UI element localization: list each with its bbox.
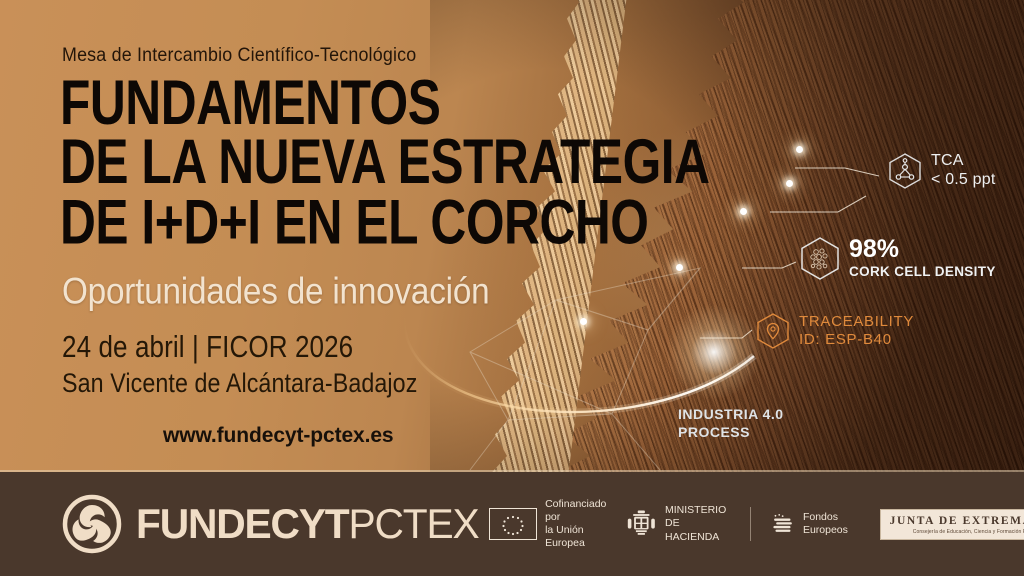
location-pin-hexagon-icon bbox=[756, 312, 790, 350]
data-point-marker bbox=[676, 264, 683, 271]
partner-divider bbox=[750, 507, 751, 541]
partner-eu-label: Cofinanciado por la Unión Europea bbox=[545, 498, 606, 551]
headline-line-2: DE LA NUEVA ESTRATEGIA bbox=[60, 134, 649, 194]
fundecyt-triskelion-logo-icon bbox=[62, 494, 122, 554]
fondos-europeos-icon bbox=[770, 508, 795, 540]
partner-fondos-label: Fondos Europeos bbox=[803, 511, 860, 537]
page-title: FUNDAMENTOS DE LA NUEVA ESTRATEGIA DE I+… bbox=[60, 74, 649, 253]
website-url[interactable]: www.fundecyt-pctex.es bbox=[163, 424, 394, 448]
partner-ministerio-label: MINISTERIO DE HACIENDA bbox=[665, 504, 730, 543]
callout-tca-line1: TCA bbox=[931, 152, 996, 171]
data-point-marker bbox=[580, 318, 587, 325]
page-subtitle: Oportunidades de innovación bbox=[62, 271, 489, 313]
event-date: 24 de abril | FICOR 2026 bbox=[62, 330, 353, 365]
callout-traceability: TRACEABILITY ID: ESP-B40 bbox=[756, 312, 914, 350]
footer-bar: FUNDECYTPCTEX Cof bbox=[0, 472, 1024, 576]
callout-tca: TCA < 0.5 ppt bbox=[888, 152, 996, 190]
callout-density-label: CORK CELL DENSITY bbox=[849, 264, 996, 280]
junta-title: JUNTA DE EXTREMADURA bbox=[890, 515, 1024, 527]
eu-flag-icon bbox=[489, 508, 537, 540]
data-point-marker bbox=[796, 146, 803, 153]
brand-wordmark-bold: FUNDECYT bbox=[136, 500, 348, 547]
event-eyebrow: Mesa de Intercambio Científico-Tecnológi… bbox=[62, 45, 416, 67]
callout-density-value: 98% bbox=[849, 237, 996, 262]
data-point-marker bbox=[740, 208, 747, 215]
brand-wordmark-light: PCTEX bbox=[348, 500, 478, 547]
headline-line-3: DE I+D+I EN EL CORCHO bbox=[60, 193, 649, 253]
callout-tca-line2: < 0.5 ppt bbox=[931, 171, 996, 190]
headline-line-1: FUNDAMENTOS bbox=[60, 74, 649, 134]
poster-canvas: Mesa de Intercambio Científico-Tecnológi… bbox=[0, 0, 1024, 576]
partner-logos: Cofinanciado por la Unión Europea bbox=[489, 498, 1024, 551]
partner-junta-extremadura: JUNTA DE EXTREMADURA Consejería de Educa… bbox=[880, 509, 1024, 540]
callout-cork-cell-density: 98% CORK CELL DENSITY bbox=[800, 236, 996, 281]
partner-european-union: Cofinanciado por la Unión Europea bbox=[489, 498, 606, 551]
event-location: San Vicente de Alcántara-Badajoz bbox=[62, 368, 417, 399]
spain-coat-of-arms-icon bbox=[626, 507, 657, 541]
callout-traceability-line2: ID: ESP-B40 bbox=[799, 331, 914, 349]
process-label-line1: INDUSTRIA 4.0 bbox=[678, 406, 784, 424]
brand-lockup: FUNDECYTPCTEX bbox=[62, 494, 489, 554]
honeycomb-hexagon-icon bbox=[800, 236, 840, 281]
partner-ministerio-hacienda: MINISTERIO DE HACIENDA bbox=[626, 504, 729, 543]
callout-traceability-line1: TRACEABILITY bbox=[799, 313, 914, 331]
process-label-line2: PROCESS bbox=[678, 424, 784, 442]
data-point-marker bbox=[786, 180, 793, 187]
partner-fondos-europeos: Fondos Europeos bbox=[770, 508, 859, 540]
process-label: INDUSTRIA 4.0 PROCESS bbox=[678, 406, 784, 441]
molecule-hexagon-icon bbox=[888, 152, 922, 190]
brand-wordmark: FUNDECYTPCTEX bbox=[136, 500, 479, 548]
junta-subtitle: Consejería de Educación, Ciencia y Forma… bbox=[890, 529, 1024, 535]
